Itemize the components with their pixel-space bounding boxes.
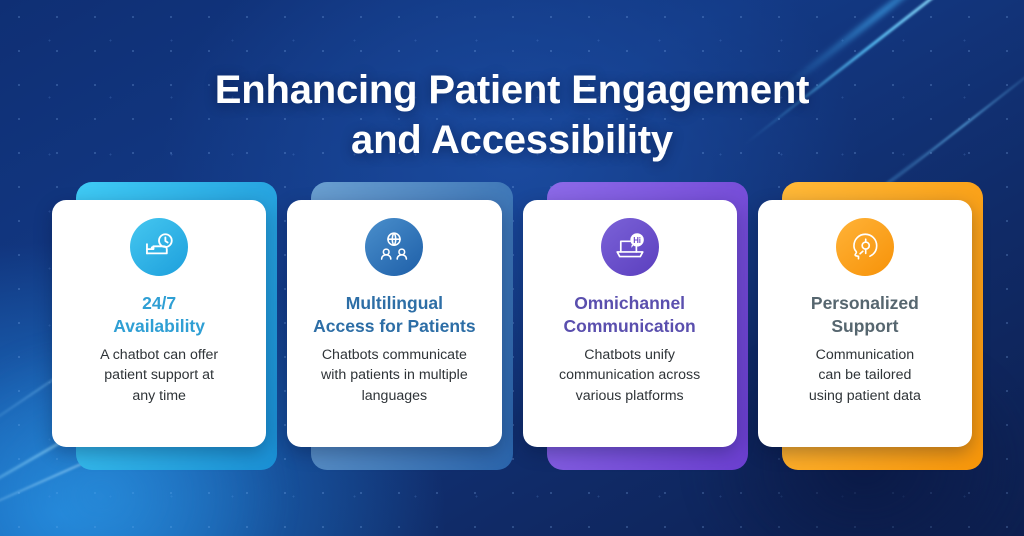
card-title: Multilingual Access for Patients — [313, 292, 475, 338]
feature-card-availability[interactable]: 24/7 Availability A chatbot can offer pa… — [52, 182, 266, 470]
feature-card-row: 24/7 Availability A chatbot can offer pa… — [52, 182, 972, 470]
hospital-bed-clock-icon — [130, 218, 188, 276]
laptop-chat-hi-icon: Hi — [601, 218, 659, 276]
card-description: Communication can be tailored using pati… — [809, 345, 921, 405]
card-description: A chatbot can offer patient support at a… — [100, 345, 218, 405]
card-body: 24/7 Availability A chatbot can offer pa… — [52, 200, 266, 447]
feature-card-personalized[interactable]: Personalized Support Communication can b… — [758, 182, 972, 470]
card-body: Multilingual Access for Patients Chatbot… — [287, 200, 501, 447]
headset-support-head-icon — [836, 218, 894, 276]
globe-people-icon — [365, 218, 423, 276]
card-body: Personalized Support Communication can b… — [758, 200, 972, 447]
card-title: Omnichannel Communication — [564, 292, 696, 338]
feature-card-multilingual[interactable]: Multilingual Access for Patients Chatbot… — [287, 182, 501, 470]
svg-text:Hi: Hi — [633, 236, 641, 245]
card-description: Chatbots communicate with patients in mu… — [321, 345, 468, 405]
card-body: Hi Omnichannel Communication Chatbots un… — [523, 200, 737, 447]
card-description: Chatbots unify communication across vari… — [559, 345, 700, 405]
feature-card-omnichannel[interactable]: Hi Omnichannel Communication Chatbots un… — [523, 182, 737, 470]
infographic-slide: Enhancing Patient Engagement and Accessi… — [0, 0, 1024, 536]
page-title: Enhancing Patient Engagement and Accessi… — [0, 65, 1024, 166]
card-title: Personalized Support — [811, 292, 919, 338]
card-title: 24/7 Availability — [113, 292, 205, 338]
